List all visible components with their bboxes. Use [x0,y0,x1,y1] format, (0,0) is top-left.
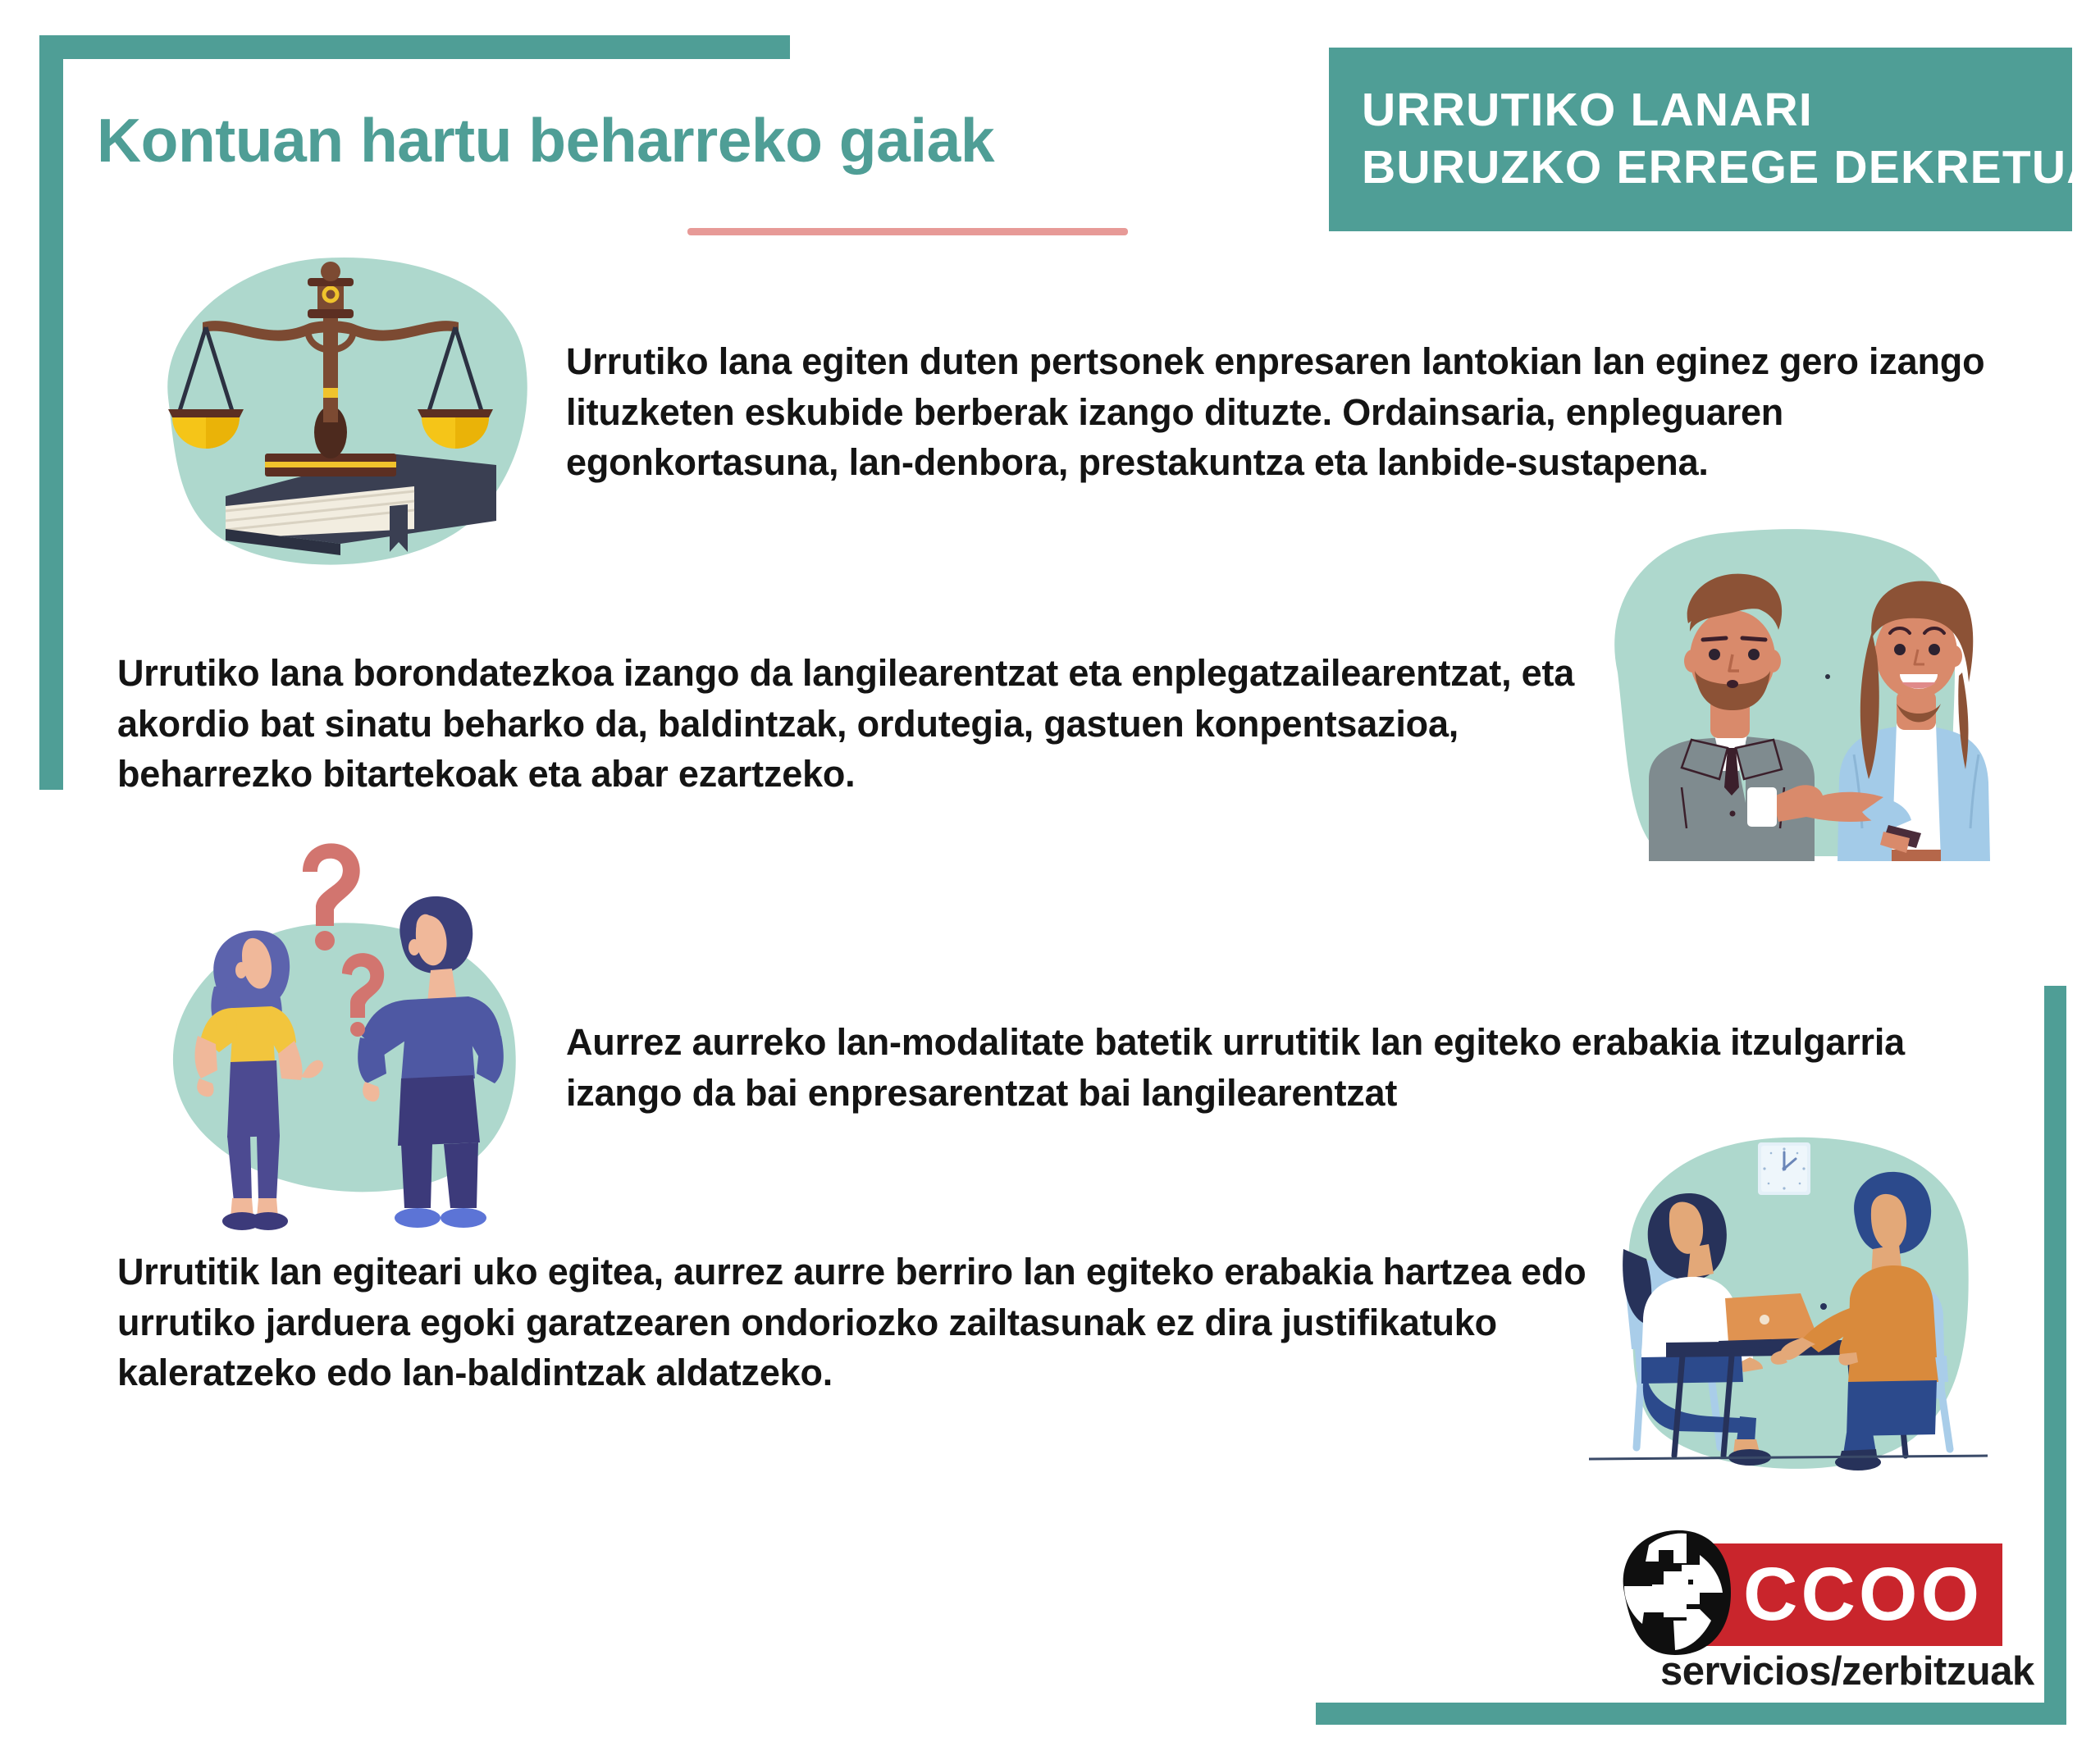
logo-tagline: servicios/zerbitzuak [1660,1648,2034,1694]
page-title: Kontuan hartu beharreko gaiak [97,105,994,176]
handshake-illustration [1583,508,2018,861]
handshake-icon [1583,508,2018,861]
ccoo-emblem-icon [1613,1525,1736,1661]
meeting-illustration [1579,1111,1997,1472]
scales-of-justice-icon [144,250,537,586]
badge-line-1: URRUTIKO LANARI [1362,82,2072,139]
header-badge: URRUTIKO LANARI BURUZKO ERREGE DEKRETUA [1329,48,2072,231]
infographic-poster: URRUTIKO LANARI BURUZKO ERREGE DEKRETUA … [0,0,2100,1760]
badge-line-2: BURUZKO ERREGE DEKRETUA [1362,139,2072,197]
question-marks-icon [119,832,529,1234]
scales-of-justice-illustration [144,250,537,586]
frame-left-vertical-bar [39,35,63,790]
frame-right-vertical-bar [2044,986,2066,1724]
paragraph-no-dismissal: Urrutitik lan egiteari uko egitea, aurre… [117,1247,1659,1398]
paragraph-voluntary-agreement: Urrutiko lana borondatezkoa izango da la… [117,648,1586,800]
title-underline-rule [687,228,1128,235]
ccoo-logo: CCOO servicios/zerbitzuak [1613,1525,2039,1702]
desk-meeting-icon [1579,1111,1997,1472]
frame-bottom-horizontal-bar [1316,1703,2066,1725]
frame-top-horizontal-bar [39,35,790,59]
questioning-people-illustration [119,832,529,1234]
paragraph-reversible-decision: Aurrez aurreko lan-modalitate batetik ur… [566,1017,1961,1118]
paragraph-rights: Urrutiko lana egiten duten pertsonek enp… [566,336,2010,488]
